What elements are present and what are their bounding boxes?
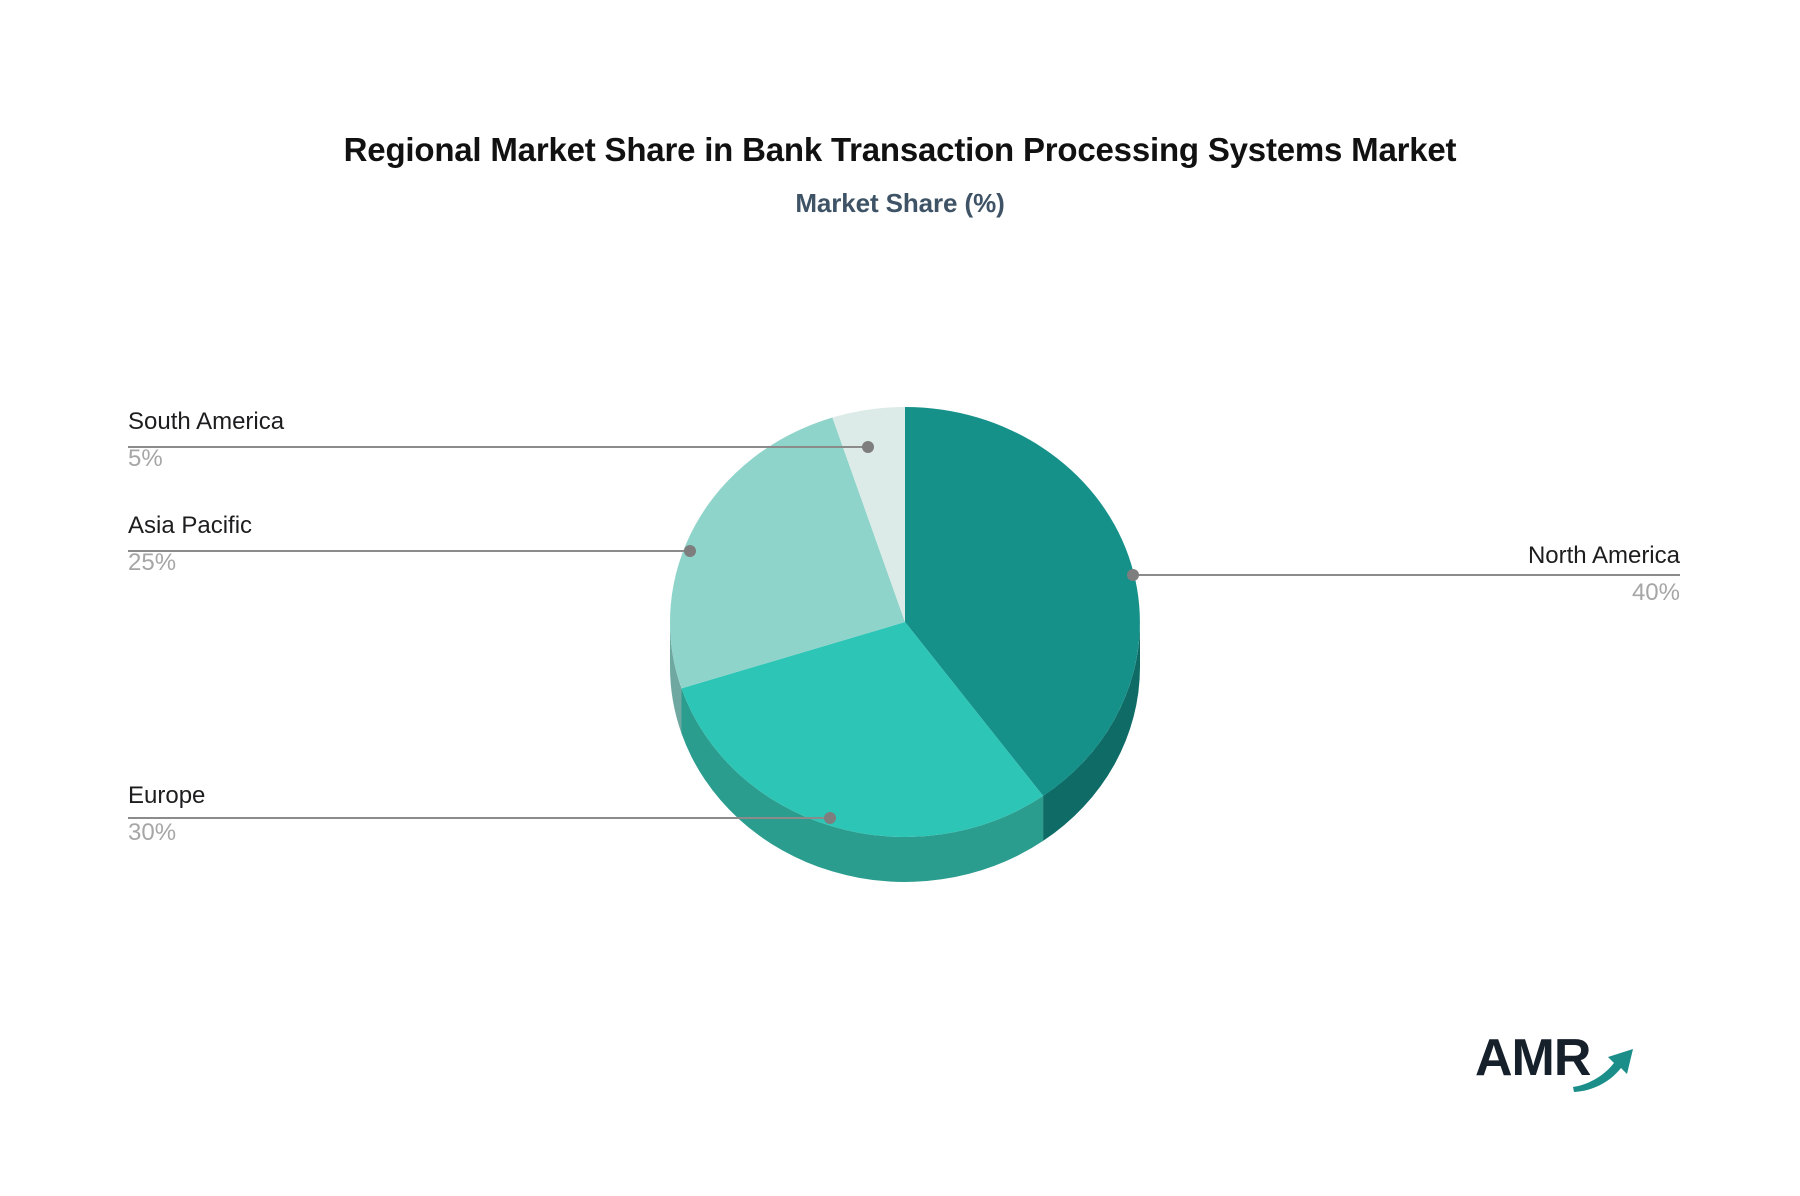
leader-dot-europe [824,812,836,824]
callout-value-north-america: 40% [1260,570,1680,607]
callout-label-south-america: South America [128,408,548,436]
callout-europe: Europe 30% [128,782,548,846]
leader-dot-asia-pacific [684,545,696,557]
callout-value-south-america: 5% [128,436,548,473]
callout-label-asia-pacific: Asia Pacific [128,512,548,540]
amr-logo: AMR [1475,1025,1650,1095]
leader-dot-north-america [1127,569,1139,581]
pie-chart-canvas: Regional Market Share in Bank Transactio… [0,0,1800,1196]
amr-logo-text: AMR [1475,1029,1591,1087]
leader-dot-south-america [862,441,874,453]
callout-label-north-america: North America [1260,542,1680,570]
callout-value-europe: 30% [128,810,548,847]
callout-label-europe: Europe [128,782,548,810]
callout-south-america: South America 5% [128,408,548,472]
pie-top-faces [670,407,1140,837]
callout-value-asia-pacific: 25% [128,540,548,577]
callout-asia-pacific: Asia Pacific 25% [128,512,548,576]
callout-north-america: North America 40% [1260,542,1680,606]
